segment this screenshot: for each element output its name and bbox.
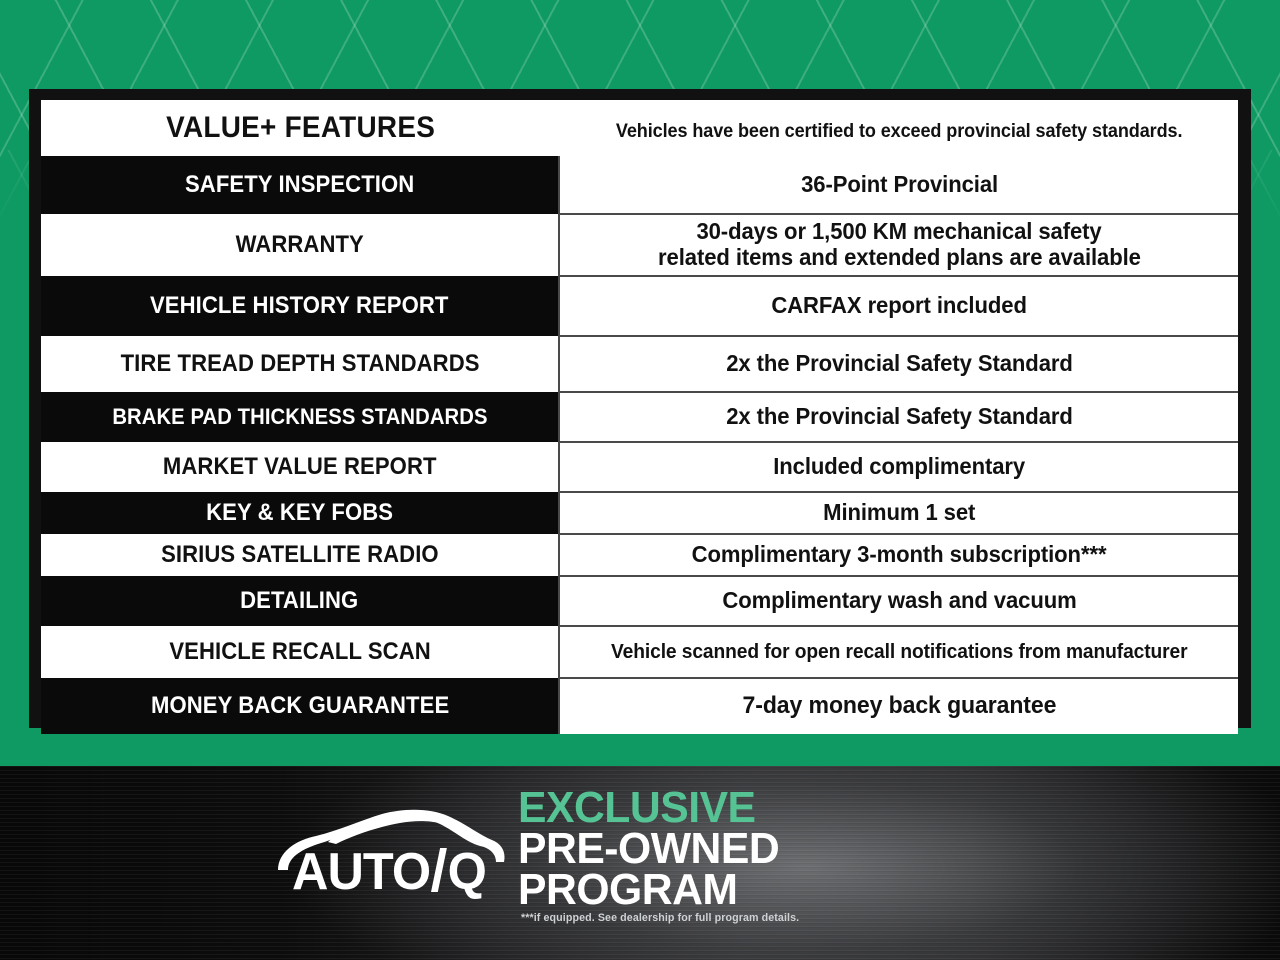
feature-value-detailing: Complimentary wash and vacuum (559, 576, 1238, 626)
headline-line-exclusive: EXCLUSIVE (518, 788, 1022, 829)
header-note-cell: Vehicles have been certified to exceed p… (559, 100, 1238, 156)
table-row: KEY & KEY FOBS Minimum 1 set (41, 492, 1238, 534)
label-text: DETAILING (241, 588, 359, 615)
table-header-row: VALUE+ FEATURES Vehicles have been certi… (41, 100, 1238, 156)
value-text: Complimentary wash and vacuum (722, 588, 1076, 614)
label-text: MONEY BACK GUARANTEE (150, 693, 448, 720)
feature-label-vehicle-history-report: VEHICLE HISTORY REPORT (41, 276, 559, 336)
feature-value-warranty: 30-days or 1,500 KM mechanical safety re… (559, 214, 1238, 276)
feature-label-sirius-satellite-radio: SIRIUS SATELLITE RADIO (41, 534, 559, 576)
headline-line-pre-owned: PRE-OWNED (518, 829, 1022, 870)
feature-label-money-back-guarantee: MONEY BACK GUARANTEE (41, 678, 559, 734)
feature-value-market-value-report: Included complimentary (559, 442, 1238, 492)
page-title: VALUE+ FEATURES (166, 111, 435, 145)
value-plus-features-table: VALUE+ FEATURES Vehicles have been certi… (29, 89, 1251, 728)
label-text: MARKET VALUE REPORT (163, 454, 437, 481)
label-text: TIRE TREAD DEPTH STANDARDS (120, 351, 479, 378)
feature-value-safety-inspection: 36-Point Provincial (559, 156, 1238, 214)
logo-slash-icon (431, 848, 447, 892)
feature-label-tire-tread-depth-standards: TIRE TREAD DEPTH STANDARDS (41, 336, 559, 392)
brand-lockup: AUTOQ EXCLUSIVE PRE-OWNED PROGRAM ***if … (0, 766, 1280, 960)
feature-label-key-and-key-fobs: KEY & KEY FOBS (41, 492, 559, 534)
disclaimer-text: ***if equipped. See dealership for full … (521, 912, 799, 924)
feature-value-key-and-key-fobs: Minimum 1 set (559, 492, 1238, 534)
value-text: Vehicle scanned for open recall notifica… (611, 641, 1188, 663)
table-row: SIRIUS SATELLITE RADIO Complimentary 3-m… (41, 534, 1238, 576)
table-row: VEHICLE RECALL SCAN Vehicle scanned for … (41, 626, 1238, 678)
header-title-cell: VALUE+ FEATURES (41, 100, 559, 156)
header-note: Vehicles have been certified to exceed p… (615, 121, 1181, 142)
feature-label-market-value-report: MARKET VALUE REPORT (41, 442, 559, 492)
value-text: Minimum 1 set (823, 500, 975, 526)
value-text: 7-day money back guarantee (742, 693, 1056, 720)
label-text: BRAKE PAD THICKNESS STANDARDS (112, 405, 487, 430)
logo-q-text: Q (448, 843, 486, 901)
value-text: CARFAX report included (771, 293, 1027, 319)
table-row: WARRANTY 30-days or 1,500 KM mechanical … (41, 214, 1238, 276)
table-row: MARKET VALUE REPORT Included complimenta… (41, 442, 1238, 492)
value-text: 2x the Provincial Safety Standard (726, 404, 1073, 430)
feature-value-money-back-guarantee: 7-day money back guarantee (559, 678, 1238, 734)
label-text: SAFETY INSPECTION (185, 172, 414, 199)
program-headline: EXCLUSIVE PRE-OWNED PROGRAM (518, 788, 1038, 911)
feature-label-brake-pad-thickness-standards: BRAKE PAD THICKNESS STANDARDS (41, 392, 559, 442)
features-table: VALUE+ FEATURES Vehicles have been certi… (41, 100, 1238, 734)
feature-value-sirius-satellite-radio: Complimentary 3-month subscription*** (559, 534, 1238, 576)
autoiq-logo: AUTOQ (270, 796, 510, 896)
feature-value-brake-pad-thickness-standards: 2x the Provincial Safety Standard (559, 392, 1238, 442)
feature-label-safety-inspection: SAFETY INSPECTION (41, 156, 559, 214)
feature-label-warranty: WARRANTY (41, 214, 559, 276)
table-row: DETAILING Complimentary wash and vacuum (41, 576, 1238, 626)
label-text: SIRIUS SATELLITE RADIO (161, 542, 439, 569)
table-row: MONEY BACK GUARANTEE 7-day money back gu… (41, 678, 1238, 734)
value-text-line2: related items and extended plans are ava… (658, 245, 1141, 271)
feature-value-tire-tread-depth-standards: 2x the Provincial Safety Standard (559, 336, 1238, 392)
logo-auto-text: AUTO (292, 843, 430, 901)
feature-label-detailing: DETAILING (41, 576, 559, 626)
feature-label-vehicle-recall-scan: VEHICLE RECALL SCAN (41, 626, 559, 678)
label-text: VEHICLE RECALL SCAN (169, 639, 430, 666)
value-text: 36-Point Provincial (801, 172, 998, 198)
value-text-line1: 30-days or 1,500 KM mechanical safety (697, 219, 1102, 245)
label-text: WARRANTY (235, 232, 363, 259)
value-text: 2x the Provincial Safety Standard (726, 351, 1073, 377)
label-text: KEY & KEY FOBS (206, 500, 393, 527)
label-text: VEHICLE HISTORY REPORT (150, 293, 449, 320)
table-row: BRAKE PAD THICKNESS STANDARDS 2x the Pro… (41, 392, 1238, 442)
feature-value-vehicle-history-report: CARFAX report included (559, 276, 1238, 336)
feature-value-vehicle-recall-scan: Vehicle scanned for open recall notifica… (559, 626, 1238, 678)
table-row: VEHICLE HISTORY REPORT CARFAX report inc… (41, 276, 1238, 336)
promo-graphic: VALUE+ FEATURES Vehicles have been certi… (0, 0, 1280, 960)
table-row: SAFETY INSPECTION 36-Point Provincial (41, 156, 1238, 214)
headline-line-program: PROGRAM (518, 870, 1022, 911)
table-row: TIRE TREAD DEPTH STANDARDS 2x the Provin… (41, 336, 1238, 392)
value-text: Complimentary 3-month subscription*** (692, 542, 1107, 568)
value-text: Included complimentary (773, 454, 1025, 480)
autoiq-wordmark: AUTOQ (292, 842, 486, 902)
